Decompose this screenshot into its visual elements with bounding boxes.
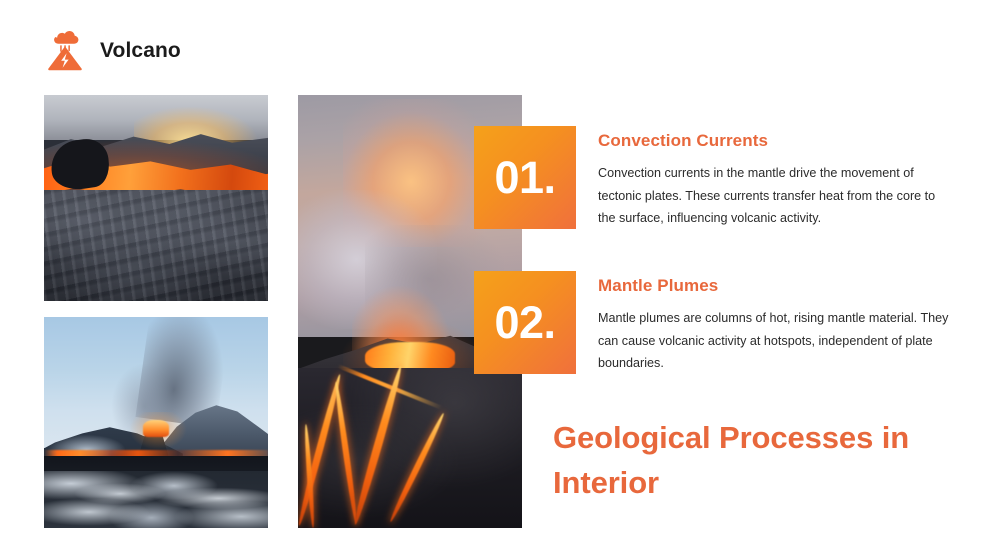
feature-block-convection-currents: Convection Currents Convection currents …	[598, 131, 956, 230]
photo-lava-field-at-dusk	[44, 95, 268, 301]
feature-block-mantle-plumes: Mantle Plumes Mantle plumes are columns …	[598, 276, 956, 375]
photo1-rock-texture	[44, 190, 268, 301]
number-badge-01: 01.	[474, 126, 576, 229]
feature-title: Mantle Plumes	[598, 276, 956, 296]
number-badge-02: 02.	[474, 271, 576, 374]
brand-header: Volcano	[44, 28, 181, 72]
brand-title: Volcano	[100, 40, 181, 61]
volcano-icon	[44, 28, 86, 72]
photo2-vent	[143, 420, 170, 437]
slide: Volcano	[0, 0, 993, 558]
photo-fissure-eruption-snow	[44, 317, 268, 528]
badge-number: 02.	[494, 300, 555, 345]
photo2-snow-field	[44, 471, 268, 528]
feature-body: Convection currents in the mantle drive …	[598, 162, 956, 229]
slide-headline: Geological Processes in Interior	[553, 416, 953, 506]
badge-number: 01.	[494, 155, 555, 200]
feature-title: Convection Currents	[598, 131, 956, 151]
feature-body: Mantle plumes are columns of hot, rising…	[598, 307, 956, 374]
